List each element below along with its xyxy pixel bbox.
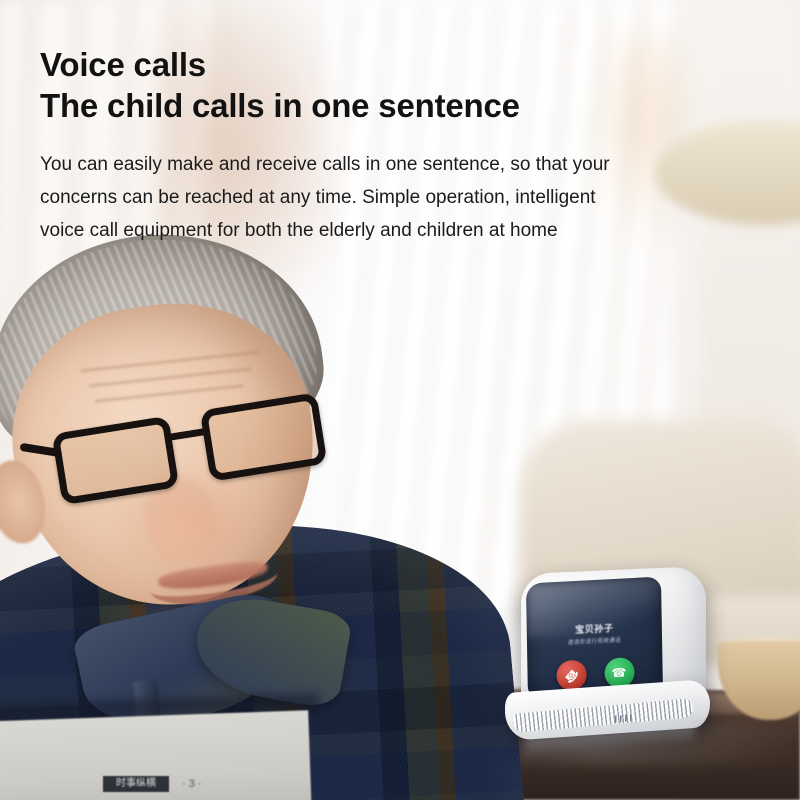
microphone-holes xyxy=(615,714,631,722)
phone-answer-icon: ☎ xyxy=(611,665,626,681)
eyeglass-lens-left xyxy=(52,416,180,506)
headline-line-2: The child calls in one sentence xyxy=(40,85,660,126)
eyeglass-lens-right xyxy=(200,392,328,482)
headline-line-1: Voice calls xyxy=(40,44,660,85)
product-marketing-page: 时事纵横 · 3 · 宝贝孙子 邀请你进行视频通话 ☎ ☎ xyxy=(0,0,800,800)
body-paragraph: You can easily make and receive calls in… xyxy=(40,148,632,247)
marketing-copy: Voice calls The child calls in one sente… xyxy=(40,44,660,247)
newspaper-headline: 时事纵横 xyxy=(105,777,167,790)
newspaper-page-number: · 3 · xyxy=(182,778,202,790)
smart-speaker-device: 宝贝孙子 邀请你进行视频通话 ☎ ☎ xyxy=(505,568,715,753)
phone-hangup-icon: ☎ xyxy=(561,665,582,686)
decline-call-button[interactable]: ☎ xyxy=(556,659,587,691)
